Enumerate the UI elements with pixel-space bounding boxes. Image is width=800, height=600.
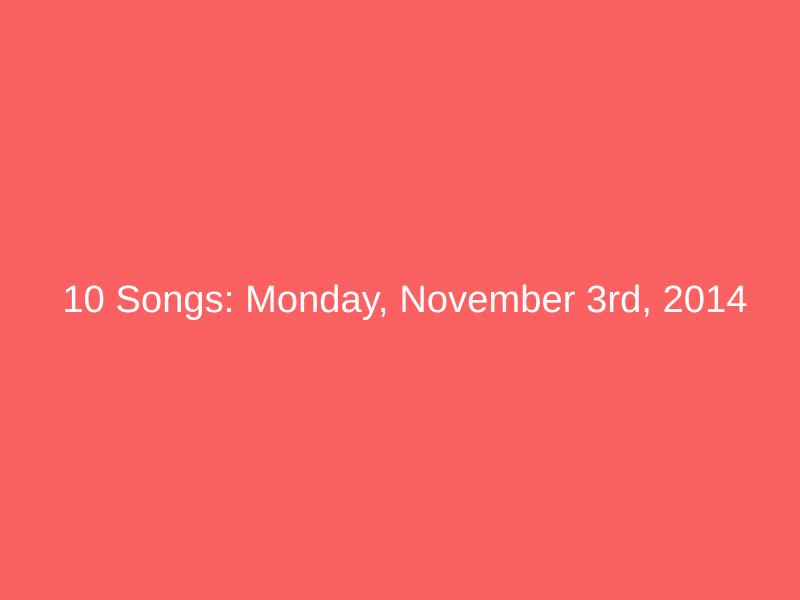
placeholder-caption-text: 10 Songs: Monday, November 3rd, 2014 xyxy=(62,279,747,323)
placeholder-image-canvas: 10 Songs: Monday, November 3rd, 2014 xyxy=(0,0,800,600)
